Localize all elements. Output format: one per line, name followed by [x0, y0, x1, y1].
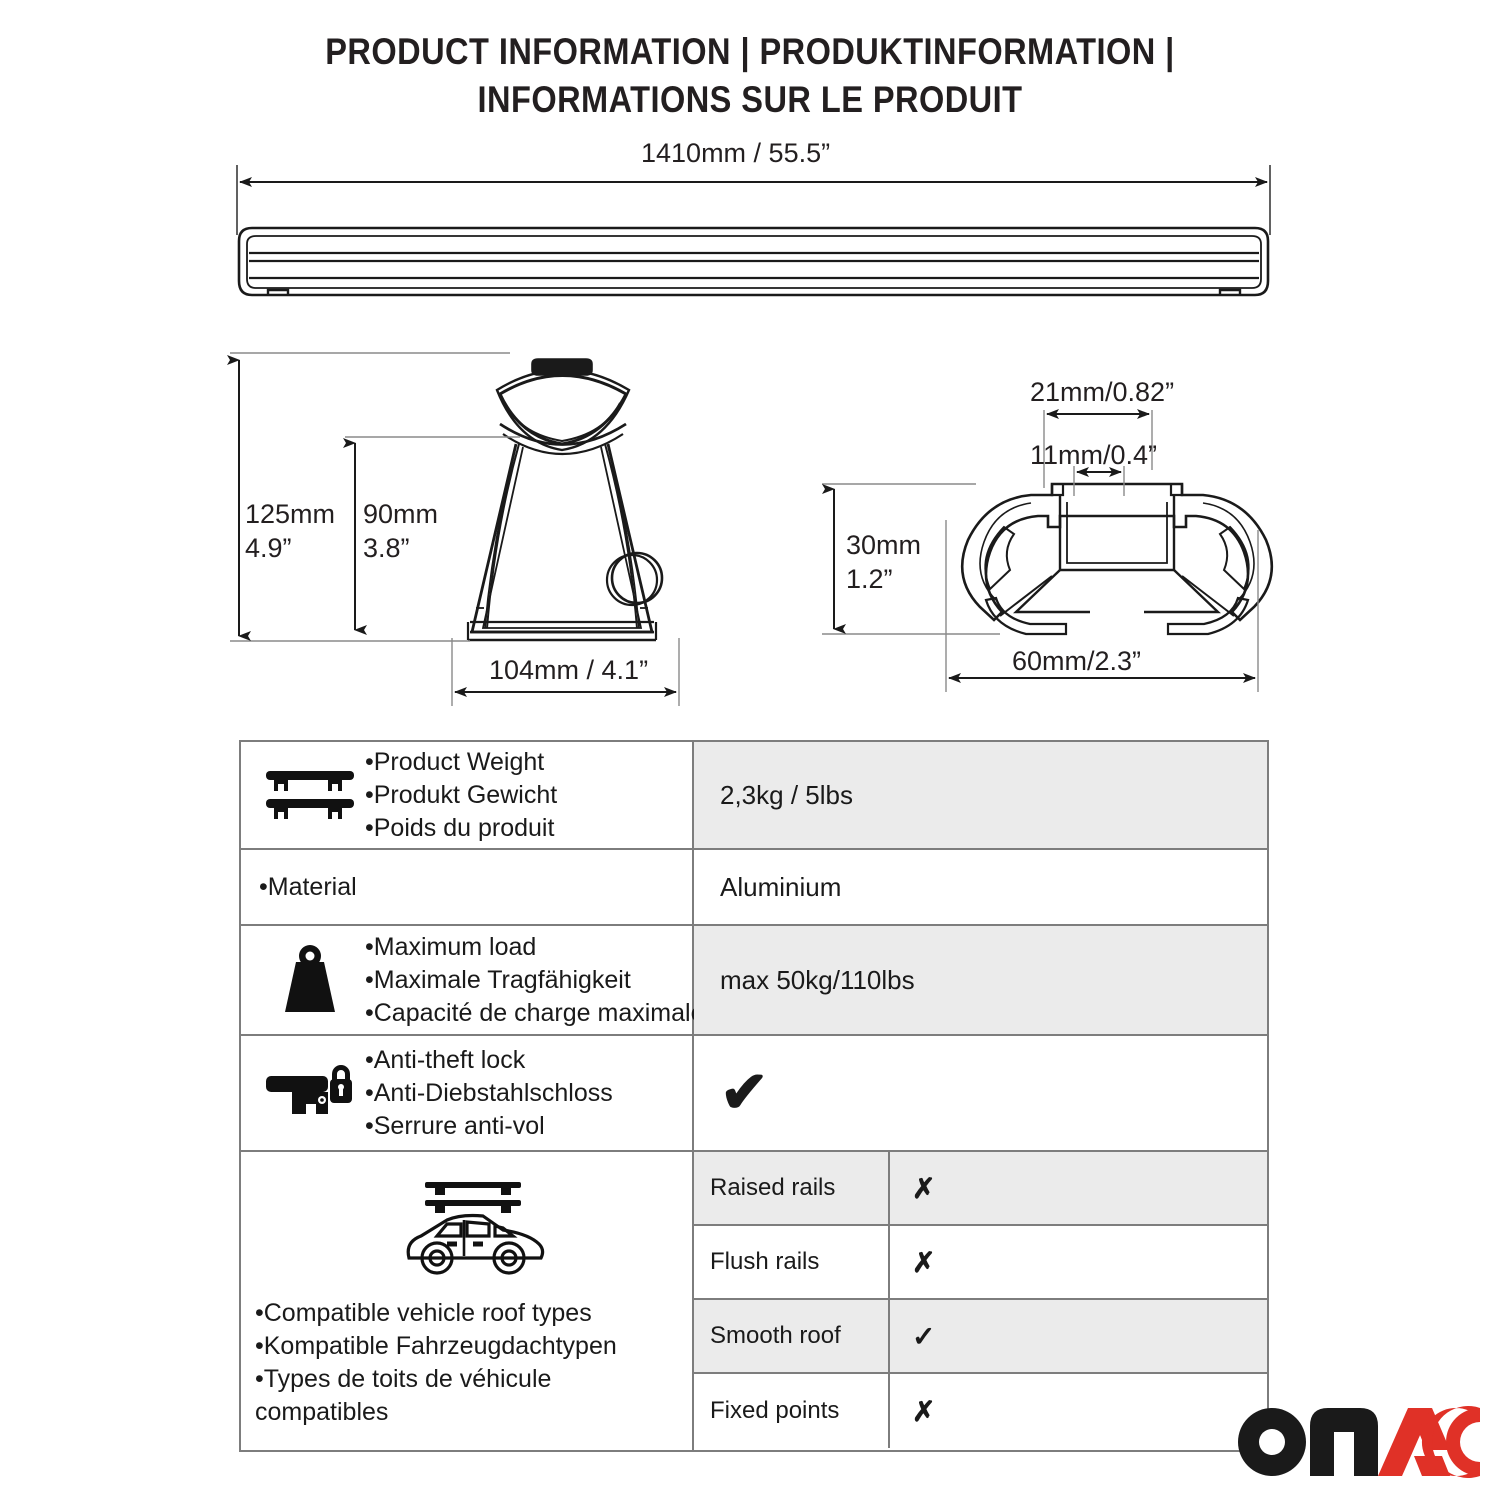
- car-with-roof-bars-icon: [391, 1174, 551, 1291]
- table-row: •Anti-theft lock •Anti-Diebstahlschloss …: [241, 1036, 1267, 1152]
- table-row: •Maximum load •Maximale Tragfähigkeit •C…: [241, 926, 1267, 1036]
- compat-option-row: Smooth roof ✓: [694, 1300, 1267, 1374]
- omac-logo: [1236, 1406, 1480, 1478]
- row-label-cell: •Maximum load •Maximale Tragfähigkeit •C…: [241, 926, 694, 1034]
- page-title: PRODUCT INFORMATION | PRODUKTINFORMATION…: [0, 28, 1500, 124]
- row-label-cell: •Product Weight •Produkt Gewicht •Poids …: [241, 742, 694, 848]
- dim-tower-width-label: 104mm / 4.1”: [489, 653, 648, 687]
- row-label-line: •Product Weight: [365, 746, 557, 779]
- tower-foot-drawing: [468, 359, 662, 640]
- dim-profile-height-label: 30mm 1.2”: [846, 528, 921, 596]
- title-line-1: PRODUCT INFORMATION | PRODUKTINFORMATION…: [90, 28, 1410, 76]
- lock-icon: [255, 1060, 365, 1126]
- bar-length-dimension: [237, 165, 1270, 235]
- table-row: •Product Weight •Produkt Gewicht •Poids …: [241, 742, 1267, 850]
- row-value-cell: max 50kg/110lbs: [694, 926, 1267, 1034]
- row-label-text-group: •Maximum load •Maximale Tragfähigkeit •C…: [365, 931, 704, 1030]
- compat-option-mark-icon: ✓: [890, 1300, 1267, 1372]
- row-label-line: •Material: [259, 871, 357, 904]
- compat-label-line: •Kompatible Fahrzeugdachtypen: [255, 1330, 617, 1363]
- row-label-line: •Serrure anti-vol: [365, 1110, 613, 1143]
- table-row-compatibility: •Compatible vehicle roof types •Kompatib…: [241, 1152, 1267, 1450]
- compat-label-cell: •Compatible vehicle roof types •Kompatib…: [241, 1152, 694, 1450]
- specification-table: •Product Weight •Produkt Gewicht •Poids …: [239, 740, 1269, 1452]
- compat-option-mark-icon: ✗: [890, 1374, 1267, 1448]
- dim-tower-height-inner-label: 90mm 3.8”: [363, 497, 438, 565]
- row-label-text-group: •Product Weight •Produkt Gewicht •Poids …: [365, 746, 557, 845]
- roof-bar-profile-drawing: [239, 228, 1268, 295]
- row-label-line: •Produkt Gewicht: [365, 779, 557, 812]
- product-information-sheet: PRODUCT INFORMATION | PRODUKTINFORMATION…: [0, 0, 1500, 1500]
- title-line-2: INFORMATIONS SUR LE PRODUIT: [90, 76, 1410, 124]
- row-label-line: •Maximum load: [365, 931, 704, 964]
- compat-option-name: Raised rails: [694, 1152, 890, 1224]
- dim-slot-outer-label: 21mm/0.82”: [1030, 375, 1174, 409]
- compat-options-table: Raised rails ✗ Flush rails ✗ Smooth roof…: [694, 1152, 1267, 1450]
- row-label-text-group: •Anti-theft lock •Anti-Diebstahlschloss …: [365, 1044, 613, 1143]
- row-label-line: •Poids du produit: [365, 812, 557, 845]
- compat-option-name: Smooth roof: [694, 1300, 890, 1372]
- compat-option-name: Fixed points: [694, 1374, 890, 1448]
- roof-bars-icon: [255, 765, 365, 825]
- compat-option-mark-icon: ✗: [890, 1152, 1267, 1224]
- dim-profile-width-label: 60mm/2.3”: [1012, 644, 1141, 678]
- compat-label-line: •Types de toits de véhicule: [255, 1363, 617, 1396]
- table-row: •Material Aluminium: [241, 850, 1267, 926]
- compat-option-row: Fixed points ✗: [694, 1374, 1267, 1448]
- row-value-cell: ✔: [694, 1036, 1267, 1150]
- row-label-text-group: •Material: [255, 871, 357, 904]
- compat-label-text-group: •Compatible vehicle roof types •Kompatib…: [255, 1297, 617, 1429]
- compat-option-row: Raised rails ✗: [694, 1152, 1267, 1226]
- row-value-cell: Aluminium: [694, 850, 1267, 924]
- dim-bar-length-label: 1410mm / 55.5”: [641, 136, 830, 170]
- rail-cross-section-drawing: [962, 484, 1272, 634]
- weight-icon: [255, 942, 365, 1018]
- row-label-line: •Capacité de charge maximale: [365, 997, 704, 1030]
- row-label-cell: •Anti-theft lock •Anti-Diebstahlschloss …: [241, 1036, 694, 1150]
- compat-label-line: compatibles: [255, 1396, 617, 1429]
- row-label-cell: •Material: [241, 850, 694, 924]
- supported-check-icon: ✔: [720, 1064, 769, 1122]
- row-label-line: •Anti-Diebstahlschloss: [365, 1077, 613, 1110]
- row-value-cell: 2,3kg / 5lbs: [694, 742, 1267, 848]
- compat-option-row: Flush rails ✗: [694, 1226, 1267, 1300]
- dim-slot-inner-label: 11mm/0.4”: [1030, 438, 1157, 472]
- compat-option-name: Flush rails: [694, 1226, 890, 1298]
- compat-option-mark-icon: ✗: [890, 1226, 1267, 1298]
- compat-label-line: •Compatible vehicle roof types: [255, 1297, 617, 1330]
- row-label-line: •Maximale Tragfähigkeit: [365, 964, 704, 997]
- dim-tower-height-total-label: 125mm 4.9”: [245, 497, 335, 565]
- row-label-line: •Anti-theft lock: [365, 1044, 613, 1077]
